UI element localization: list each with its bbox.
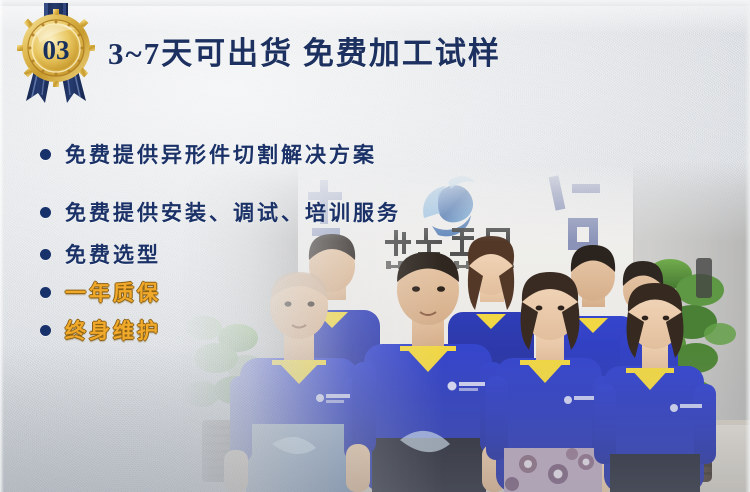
bullet-dot-icon	[40, 207, 51, 218]
bullet-dot-icon	[40, 287, 51, 298]
list-item: 免费提供异形件切割解决方案	[40, 135, 401, 173]
bullet-dot-icon	[40, 149, 51, 160]
medal-number: 03	[43, 35, 70, 65]
bullet-dot-icon	[40, 249, 51, 260]
list-item: 免费提供安装、调试、培训服务	[40, 193, 401, 231]
slide-header: 03 3~7天可出货 免费加工试样	[0, 0, 750, 108]
feature-list: 免费提供异形件切割解决方案 免费提供安装、调试、培训服务 免费选型 一年质保 终…	[40, 135, 401, 349]
list-item: 终身维护	[40, 311, 401, 349]
list-item-label: 免费选型	[65, 239, 161, 269]
list-item: 免费选型	[40, 235, 401, 273]
page-title: 3~7天可出货 免费加工试样	[108, 28, 501, 73]
bullet-dot-icon	[40, 325, 51, 336]
list-item-label: 终身维护	[65, 315, 161, 345]
list-item-label: 免费提供异形件切割解决方案	[65, 139, 377, 169]
list-item: 一年质保	[40, 273, 401, 311]
slide-canvas: 03 3~7天可出货 免费加工试样 免费提供异形件切割解决方案 免费提供安装、调…	[0, 0, 750, 492]
list-item-label: 一年质保	[65, 277, 161, 307]
list-item-label: 免费提供安装、调试、培训服务	[65, 197, 401, 227]
award-ribbon-icon: 03	[12, 3, 100, 107]
